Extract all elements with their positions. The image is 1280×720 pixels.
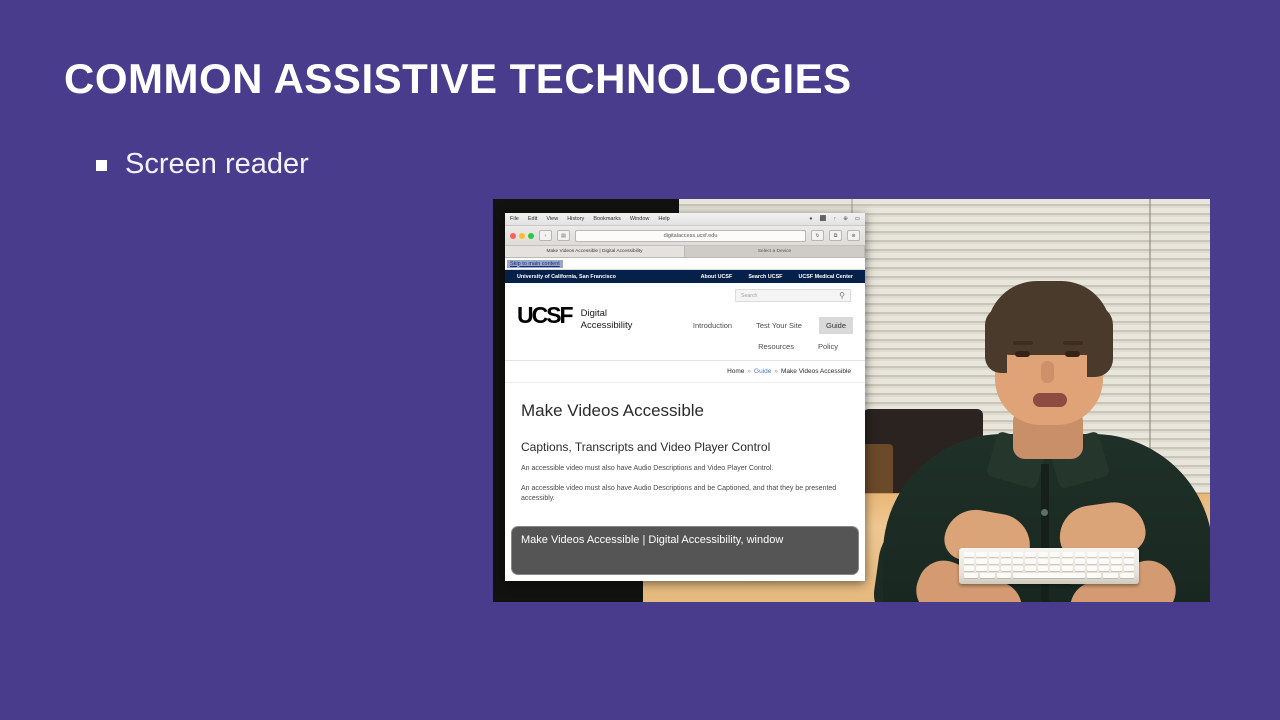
browser-tab-bar[interactable]: Make Videos Accessible | Digital Accessi… <box>505 246 865 258</box>
person-shirt-button <box>1041 509 1048 516</box>
nav-item-guide[interactable]: Guide <box>819 317 853 334</box>
keyboard-key <box>976 552 986 557</box>
window-traffic-lights[interactable] <box>510 233 534 239</box>
skip-to-main-content-link[interactable]: Skip to main content <box>507 260 563 268</box>
site-main-nav[interactable]: Introduction Test Your Site Guide Resour… <box>641 305 853 355</box>
person-eye-right <box>1065 351 1080 357</box>
skip-link-bar: Skip to main content <box>505 258 865 270</box>
person-eyebrow-right <box>1063 341 1083 345</box>
browser-tab-active[interactable]: Make Videos Accessible | Digital Accessi… <box>505 246 685 257</box>
keyboard-key <box>989 566 999 571</box>
voiceover-caption-panel: Make Videos Accessible | Digital Accessi… <box>511 526 859 575</box>
nav-row-secondary: Resources Policy <box>641 338 853 355</box>
keyboard-key <box>989 552 999 557</box>
keyboard-key <box>980 573 994 578</box>
keyboard-key <box>1038 559 1048 564</box>
keyboard-key <box>1001 552 1011 557</box>
keyboard-key <box>1075 566 1085 571</box>
keyboard-key <box>1124 559 1134 564</box>
search-icon[interactable]: ⚲ <box>839 292 845 300</box>
global-nav-ucsf-medical-center[interactable]: UCSF Medical Center <box>798 274 853 280</box>
reload-button[interactable]: ↻ <box>811 230 824 241</box>
keyboard-key <box>1001 566 1011 571</box>
menu-item-bookmarks[interactable]: Bookmarks <box>593 216 621 222</box>
keyboard-key <box>1050 552 1060 557</box>
keyboard-key <box>1025 552 1035 557</box>
keyboard-row <box>964 559 1134 564</box>
menu-item-help[interactable]: Help <box>658 216 669 222</box>
menu-item-window[interactable]: Window <box>630 216 650 222</box>
maximize-icon[interactable] <box>528 233 534 239</box>
content-paragraph: An accessible video must also have Audio… <box>521 464 849 475</box>
address-bar-url: digitalaccess.ucsf.edu <box>664 233 718 239</box>
menu-item-file[interactable]: File <box>510 216 519 222</box>
keyboard-key <box>1050 566 1060 571</box>
keyboard-key <box>997 573 1011 578</box>
keyboard-key <box>1013 566 1023 571</box>
search-placeholder-text: Search <box>741 293 757 299</box>
breadcrumb-guide[interactable]: Guide <box>754 368 771 375</box>
bullet-item-label: Screen reader <box>125 148 309 181</box>
keyboard-key <box>1099 566 1109 571</box>
keyboard-key <box>1013 552 1023 557</box>
ucsf-global-nav[interactable]: University of California, San Francisco … <box>505 270 865 283</box>
keyboard-spacebar <box>1013 573 1085 578</box>
browser-toolbar[interactable]: ‹ ▤ digitalaccess.ucsf.edu ↻ ⧉ ⊕ <box>505 226 865 246</box>
menu-item-view[interactable]: View <box>546 216 558 222</box>
keyboard-key <box>1120 573 1134 578</box>
nav-item-policy[interactable]: Policy <box>811 338 845 355</box>
keyboard <box>959 548 1139 584</box>
site-name: Digital Accessibility <box>581 305 633 332</box>
address-bar[interactable]: digitalaccess.ucsf.edu <box>575 230 806 242</box>
global-nav-search-ucsf[interactable]: Search UCSF <box>748 274 782 280</box>
menu-status-wifi-icon[interactable]: ↑ <box>833 216 836 222</box>
keyboard-key <box>964 573 978 578</box>
keyboard-row <box>964 566 1134 571</box>
browser-tab-inactive[interactable]: Select a Device <box>685 246 865 257</box>
keyboard-key <box>964 566 974 571</box>
keyboard-key <box>1062 559 1072 564</box>
breadcrumb[interactable]: Home » Guide » Make Videos Accessible <box>505 361 865 383</box>
page-content: Make Videos Accessible Captions, Transcr… <box>505 383 865 505</box>
keyboard-key <box>1038 566 1048 571</box>
breadcrumb-home[interactable]: Home <box>727 368 744 375</box>
nav-item-test-your-site[interactable]: Test Your Site <box>749 317 809 334</box>
keyboard-key <box>1099 552 1109 557</box>
nav-row-primary: Introduction Test Your Site Guide <box>641 317 853 334</box>
bullet-list-item: Screen reader <box>96 148 309 181</box>
breadcrumb-separator-icon: » <box>747 368 751 375</box>
new-tab-button[interactable]: ⊕ <box>847 230 860 241</box>
keyboard-key <box>1013 559 1023 564</box>
keyboard-key <box>1062 552 1072 557</box>
keyboard-key <box>976 559 986 564</box>
person-hair-left <box>985 307 1007 373</box>
content-paragraph: An accessible video must also have Audio… <box>521 484 849 505</box>
keyboard-key <box>1025 566 1035 571</box>
keyboard-key <box>964 552 974 557</box>
menu-status-battery-icon[interactable]: ⊕ <box>843 216 848 222</box>
nav-item-introduction[interactable]: Introduction <box>686 317 739 334</box>
page-title: COMMON ASSISTIVE TECHNOLOGIES <box>64 55 852 103</box>
content-subheading: Captions, Transcripts and Video Player C… <box>521 439 849 455</box>
bullet-marker-icon <box>96 160 107 171</box>
slide-canvas: COMMON ASSISTIVE TECHNOLOGIES Screen rea… <box>0 0 1280 720</box>
back-button[interactable]: ‹ <box>539 230 552 241</box>
menu-item-history[interactable]: History <box>567 216 584 222</box>
mac-menu-bar[interactable]: File Edit View History Bookmarks Window … <box>505 213 865 226</box>
keyboard-key <box>1087 559 1097 564</box>
keyboard-key <box>1075 552 1085 557</box>
keyboard-key <box>964 559 974 564</box>
browser-window[interactable]: File Edit View History Bookmarks Window … <box>505 213 865 581</box>
tab-overview-button[interactable]: ⧉ <box>829 230 842 241</box>
menu-status-record-icon[interactable]: ● <box>809 216 812 222</box>
person-mouth <box>1033 393 1067 407</box>
embedded-video[interactable]: File Edit View History Bookmarks Window … <box>493 199 1210 602</box>
menu-status-voiceover-icon[interactable]: ⬛ <box>820 216 827 222</box>
keyboard-key <box>976 566 986 571</box>
site-header: Search ⚲ UCSF Digital Accessibility Intr… <box>505 283 865 361</box>
keyboard-row <box>964 552 1134 557</box>
menu-status-clock-icon[interactable]: ▭ <box>855 216 860 222</box>
site-name-line-1: Digital <box>581 308 633 320</box>
keyboard-key <box>1087 552 1097 557</box>
keyboard-key <box>1124 552 1134 557</box>
keyboard-key <box>1111 559 1121 564</box>
keyboard-key <box>1001 559 1011 564</box>
keyboard-key <box>1111 552 1121 557</box>
content-heading: Make Videos Accessible <box>521 401 849 421</box>
site-name-line-2: Accessibility <box>581 320 633 332</box>
keyboard-key <box>1087 573 1101 578</box>
keyboard-key <box>1124 566 1134 571</box>
sidebar-toggle-button[interactable]: ▤ <box>557 230 570 241</box>
keyboard-key <box>1050 559 1060 564</box>
person-nose <box>1041 361 1054 383</box>
menu-item-edit[interactable]: Edit <box>528 216 537 222</box>
keyboard-key <box>1099 559 1109 564</box>
nav-item-resources[interactable]: Resources <box>751 338 801 355</box>
person-eye-left <box>1015 351 1030 357</box>
keyboard-row <box>964 573 1134 578</box>
person-hair-right <box>1087 305 1113 377</box>
keyboard-key <box>1111 566 1121 571</box>
minimize-icon[interactable] <box>519 233 525 239</box>
ucsf-university-brand-link[interactable]: University of California, San Francisco <box>517 274 616 280</box>
keyboard-key <box>1062 566 1072 571</box>
person-eyebrow-left <box>1013 341 1033 345</box>
keyboard-key <box>1087 566 1097 571</box>
breadcrumb-separator-icon: » <box>774 368 778 375</box>
keyboard-key <box>1075 559 1085 564</box>
keyboard-key <box>1038 552 1048 557</box>
search-input[interactable]: Search ⚲ <box>735 289 851 302</box>
ucsf-logo[interactable]: UCSF <box>517 305 572 326</box>
breadcrumb-current: Make Videos Accessible <box>781 368 851 375</box>
close-icon[interactable] <box>510 233 516 239</box>
keyboard-key <box>1025 559 1035 564</box>
voiceover-caption-text: Make Videos Accessible | Digital Accessi… <box>521 534 783 546</box>
keyboard-key <box>1103 573 1117 578</box>
keyboard-key <box>989 559 999 564</box>
global-nav-about-ucsf[interactable]: About UCSF <box>701 274 733 280</box>
